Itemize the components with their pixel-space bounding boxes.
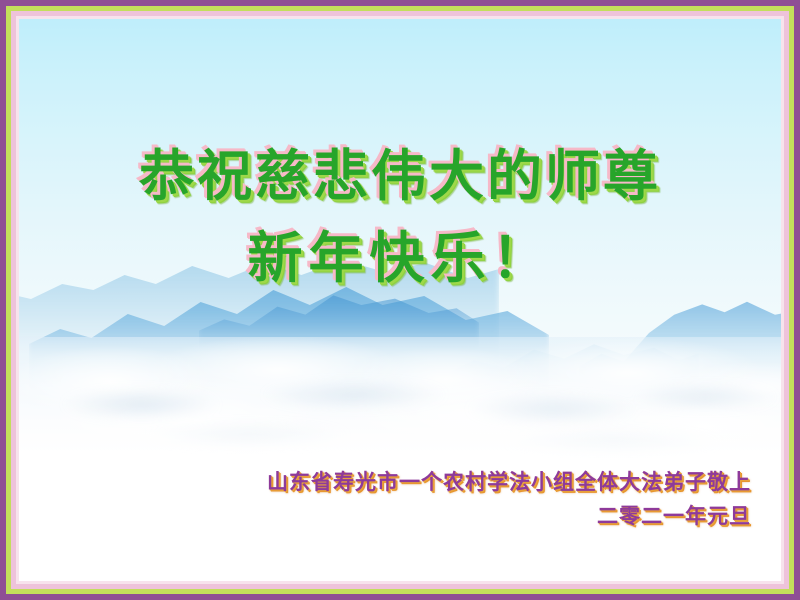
signature-block: 山东省寿光市一个农村学法小组全体大法弟子敬上 二零二一年元旦 — [19, 465, 751, 533]
frame-band-green: 恭祝慈悲伟大的师尊 新年快乐！ 山东省寿光市一个农村学法小组全体大法弟子敬上 二… — [6, 6, 794, 594]
scenery-image — [19, 19, 781, 487]
card-stage: 恭祝慈悲伟大的师尊 新年快乐！ 山东省寿光市一个农村学法小组全体大法弟子敬上 二… — [19, 19, 781, 581]
signature-line-sender: 山东省寿光市一个农村学法小组全体大法弟子敬上 — [19, 465, 751, 499]
frame-band-pink: 恭祝慈悲伟大的师尊 新年快乐！ 山东省寿光市一个农村学法小组全体大法弟子敬上 二… — [11, 11, 789, 589]
greeting-card: 恭祝慈悲伟大的师尊 新年快乐！ 山东省寿光市一个农村学法小组全体大法弟子敬上 二… — [0, 0, 800, 600]
frame-band-pale-pink: 恭祝慈悲伟大的师尊 新年快乐！ 山东省寿光市一个农村学法小组全体大法弟子敬上 二… — [16, 16, 784, 584]
signature-line-date: 二零二一年元旦 — [19, 499, 751, 533]
